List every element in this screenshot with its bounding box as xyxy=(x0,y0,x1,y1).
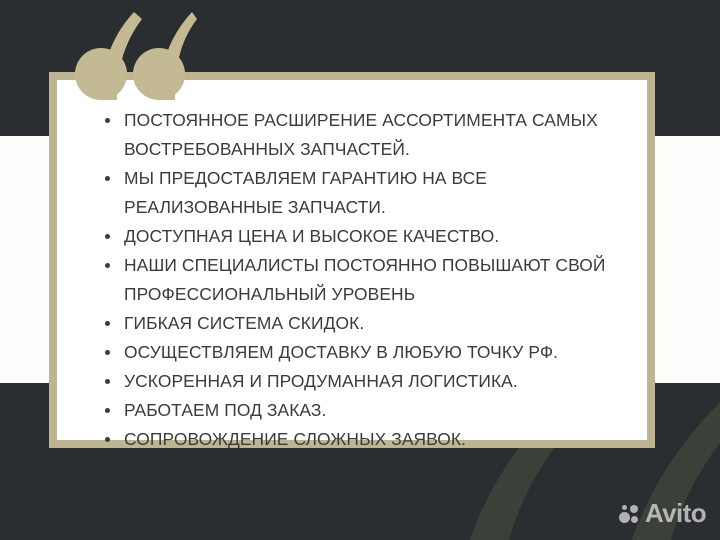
opening-quote-icon xyxy=(72,8,197,100)
list-item: Гибкая система скидок. xyxy=(103,309,617,338)
list-item: Работаем под заказ. xyxy=(103,396,617,425)
slide-canvas: Постоянное расширение ассортимента самых… xyxy=(0,0,720,540)
avito-dot-large xyxy=(619,512,630,523)
avito-logo-icon xyxy=(619,503,642,524)
quote-card: Постоянное расширение ассортимента самых… xyxy=(49,72,655,448)
list-item: Осуществляем доставку в любую точку РФ. xyxy=(103,338,617,367)
avito-dot-medium xyxy=(631,516,638,523)
list-item: Мы предоставляем гарантию на все реализо… xyxy=(103,164,617,222)
list-item: Постоянное расширение ассортимента самых… xyxy=(103,106,617,164)
avito-dot-small-left xyxy=(622,505,627,510)
list-item: Ускоренная и продуманная логистика. xyxy=(103,367,617,396)
list-item: Сопровождение сложных заявок. xyxy=(103,425,617,454)
list-item: Доступная цена и высокое качество. xyxy=(103,222,617,251)
avito-dot-small-upper xyxy=(630,505,638,513)
avito-wordmark: Avito xyxy=(645,500,706,526)
avito-watermark: Avito xyxy=(619,500,706,526)
quote-card-inner: Постоянное расширение ассортимента самых… xyxy=(57,80,647,440)
benefits-list: Постоянное расширение ассортимента самых… xyxy=(103,106,617,454)
list-item: Наши специалисты постоянно повышают свой… xyxy=(103,251,617,309)
